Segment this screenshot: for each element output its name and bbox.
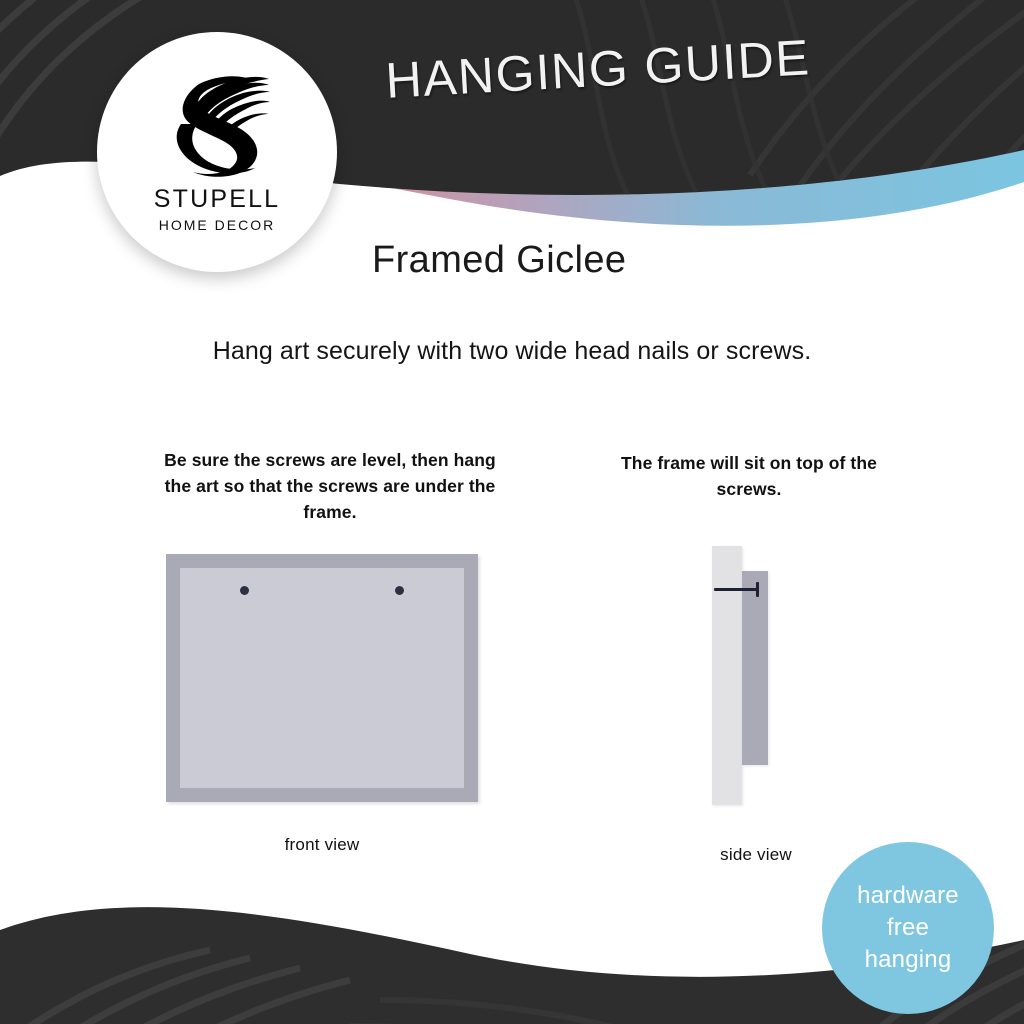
side-view-diagram <box>712 546 800 806</box>
screw-dot-right <box>395 586 404 595</box>
picture-frame-artwork <box>180 568 464 788</box>
badge-line-2: free <box>887 912 929 944</box>
main-instruction-text: Hang art securely with two wide head nai… <box>0 337 1024 366</box>
front-view-label: front view <box>166 835 478 855</box>
hardware-free-hanging-badge: hardware free hanging <box>822 842 994 1014</box>
logo-brand-name: STUPELL <box>154 187 281 212</box>
hanging-guide-infographic: HANGING GUIDE STUPELL HOME DECOR Framed … <box>0 0 1024 1024</box>
frame-side-profile <box>742 571 768 765</box>
page-title: HANGING GUIDE <box>384 28 812 110</box>
picture-frame-border <box>166 554 478 802</box>
badge-line-3: hanging <box>865 944 952 976</box>
screw-shaft-icon <box>714 588 758 591</box>
front-view-diagram <box>166 554 478 802</box>
side-view-caption: The frame will sit on top of the screws. <box>600 450 898 502</box>
product-type-heading: Framed Giclee <box>372 239 626 282</box>
badge-line-1: hardware <box>857 880 959 912</box>
brand-logo-badge: STUPELL HOME DECOR <box>97 32 337 272</box>
screw-dot-left <box>240 586 249 595</box>
front-view-caption: Be sure the screws are level, then hang … <box>150 447 510 525</box>
logo-brand-subtitle: HOME DECOR <box>159 218 275 232</box>
screw-head-icon <box>756 582 759 597</box>
side-view-label: side view <box>676 845 836 865</box>
stupell-swoosh-icon <box>163 58 271 180</box>
wall-strip <box>712 546 742 805</box>
